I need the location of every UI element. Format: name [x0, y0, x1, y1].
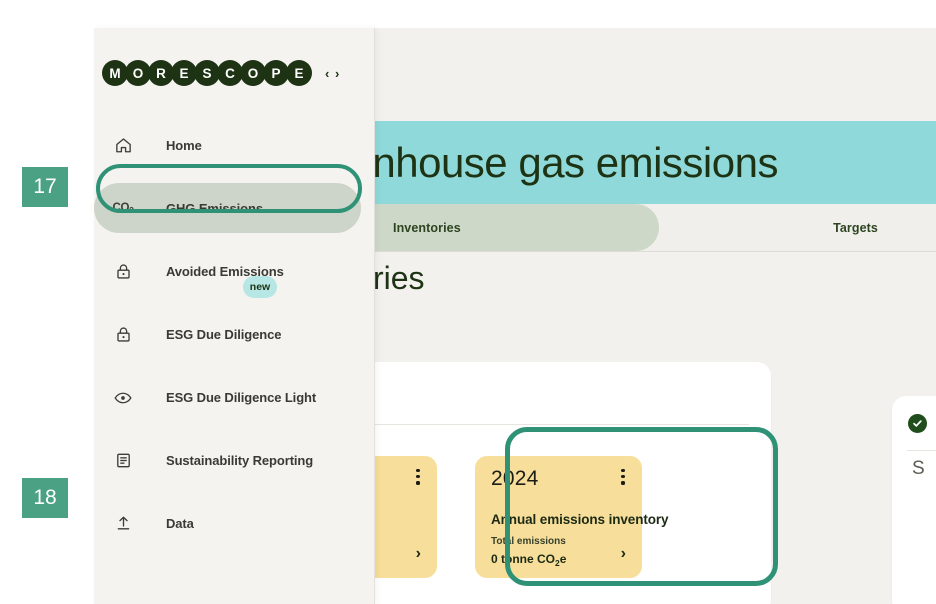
lock-icon: [108, 262, 138, 281]
sidebar-item-home[interactable]: Home: [94, 114, 375, 177]
sidebar-header: M O R E S C O P E ‹ ›: [94, 50, 375, 96]
inventory-metric-label: Total emissions: [491, 536, 566, 547]
screenshot-root: Greenhouse gas emissions Inventories Tar…: [0, 0, 936, 604]
tab-inventories-label: Inventories: [393, 221, 461, 235]
sidebar-item-label: Data: [166, 516, 194, 531]
sidebar-item-label: GHG Emissions: [166, 201, 263, 216]
sidebar-item-sustainability-reporting[interactable]: Sustainability Reporting: [94, 429, 375, 492]
side-summary-panel: S: [892, 396, 936, 604]
sidebar-item-avoided-emissions[interactable]: Avoided Emissions: [94, 240, 375, 303]
metric-value-prefix: 0 tonne CO: [491, 552, 555, 566]
collapse-expand-arrows-icon[interactable]: ‹ ›: [325, 66, 340, 81]
sidebar-item-label: ESG Due Diligence Light: [166, 390, 316, 405]
tab-targets-label: Targets: [833, 221, 878, 235]
page-banner: Greenhouse gas emissions: [373, 121, 936, 204]
metric-value-suffix: e: [560, 552, 567, 566]
more-options-icon[interactable]: [416, 469, 420, 485]
panel-divider: [907, 450, 936, 451]
lock-icon: [108, 325, 138, 344]
sidebar: M O R E S C O P E ‹ › Home: [94, 28, 375, 604]
inventory-card-name: Annual emissions inventory: [491, 512, 668, 527]
new-badge: new: [243, 276, 277, 298]
sidebar-item-esg-due-diligence-light[interactable]: ESG Due Diligence Light: [94, 366, 375, 429]
sidebar-item-esg-due-diligence[interactable]: ESG Due Diligence: [94, 303, 375, 366]
co2-subscript: 2: [129, 205, 133, 215]
sidebar-item-label: ESG Due Diligence: [166, 327, 281, 342]
co2-icon: CO2: [108, 202, 138, 215]
check-circle-icon: [908, 414, 927, 433]
sidebar-item-label: Home: [166, 138, 202, 153]
sidebar-nav: Home CO2 GHG Emissions Avoided Emissio: [94, 114, 375, 555]
logo-letter: E: [286, 60, 312, 86]
sidebar-item-ghg-emissions[interactable]: CO2 GHG Emissions: [94, 177, 375, 240]
chevron-right-icon[interactable]: ›: [416, 546, 421, 562]
tab-targets[interactable]: Targets: [833, 204, 878, 251]
side-panel-text: S: [912, 458, 925, 480]
inventory-metric-value: 0 tonne CO2e: [491, 552, 566, 568]
document-icon: [108, 451, 138, 470]
tab-bar: Inventories Targets: [373, 204, 936, 252]
sidebar-item-data[interactable]: Data: [94, 492, 375, 555]
annotation-badge-17: 17: [22, 167, 68, 207]
co2-glyph: CO2: [112, 202, 133, 215]
home-icon: [108, 136, 138, 155]
inventory-card-year: 2024: [491, 468, 628, 489]
eye-icon: [108, 388, 138, 408]
chevron-right-icon[interactable]: ›: [621, 546, 626, 562]
more-options-icon[interactable]: [621, 469, 625, 485]
inventory-card-2024[interactable]: 2024 Annual emissions inventory Total em…: [475, 456, 642, 578]
annotation-badge-18: 18: [22, 478, 68, 518]
upload-icon: [108, 514, 138, 533]
sidebar-item-label: Sustainability Reporting: [166, 453, 313, 468]
brand-logo[interactable]: M O R E S C O P E: [102, 60, 309, 86]
